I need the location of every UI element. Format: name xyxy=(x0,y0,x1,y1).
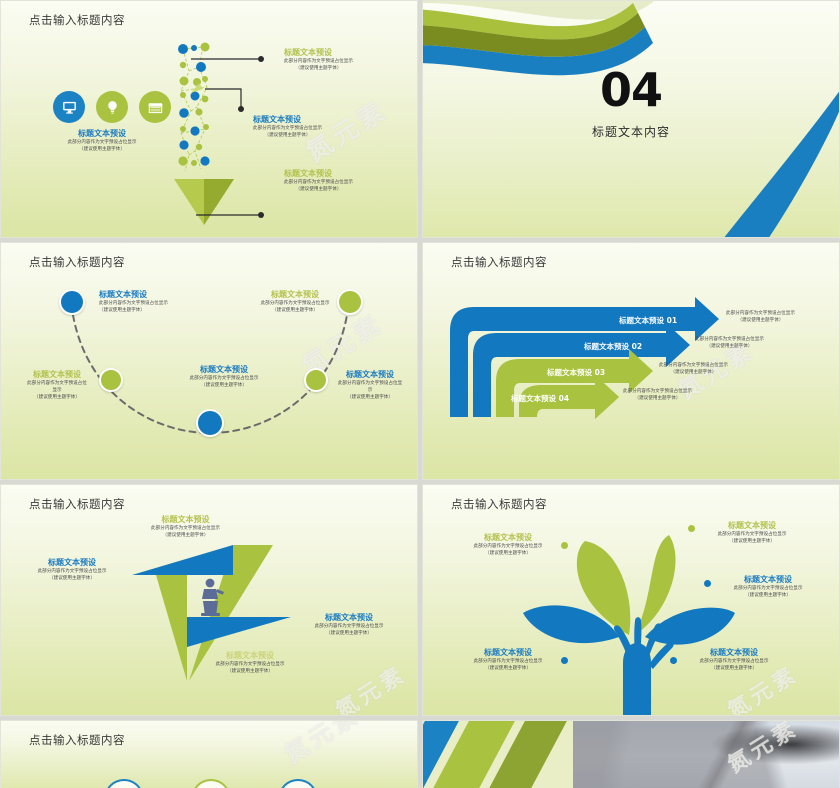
slide-5-item-right: 标题文本预设 此部分内容作为文字预设占位显示 （建议使用主题字体） xyxy=(293,613,405,638)
bullet-top-right xyxy=(688,525,695,532)
preset-title: 标题文本预设 xyxy=(284,169,353,180)
slide-3-label-5: 标题文本预设 此部分内容作为文字预设占位显示 （建议使用主题字体） xyxy=(259,290,331,315)
preset-body-line-1: 此部分内容作为文字预设占位显示 xyxy=(695,337,764,344)
section-subtitle: 标题文本内容 xyxy=(423,123,839,140)
lightbulb-icon[interactable] xyxy=(96,91,128,123)
slide-3-label-4: 标题文本预设 此部分内容作为文字预设占位显示 （建议使用主题字体） xyxy=(337,370,403,401)
preset-body-line-1: 此部分内容作为文字预设占位显示 xyxy=(17,569,127,576)
preset-body-line-1: 此部分内容作为文字预设占位显示 xyxy=(99,301,168,308)
slide-4-desc-2: 此部分内容作为文字预设占位显示 （建议使用主题字体） xyxy=(695,337,764,351)
preset-body-line-1: 此部分内容作为文字预设占位显示 xyxy=(623,389,692,396)
preset-body-line-1: 此部分内容作为文字预设占位显示 xyxy=(123,526,248,533)
preset-body-line-2: （建议使用主题字体） xyxy=(284,66,353,73)
slide-4-stacked-arrows[interactable]: 点击输入标题内容 氮元素 标题文本预设 01 标题文本预设 02 标题文本预设 … xyxy=(422,242,840,480)
preset-body-line-2: （建议使用主题字体） xyxy=(253,133,322,140)
slide-8-city-banner[interactable]: 氮元素 xyxy=(422,720,840,788)
preset-body-line-2: （建议使用主题字体） xyxy=(337,395,403,402)
preset-body-line-2: （建议使用主题字体） xyxy=(459,551,557,558)
preset-title: 标题文本预设 xyxy=(293,613,405,624)
display-ring-icon[interactable] xyxy=(278,779,318,788)
preset-body-line-2: （建议使用主题字体） xyxy=(623,396,692,403)
slide-5-item-bottom: 标题文本预设 此部分内容作为文字预设占位显示 （建议使用主题字体） xyxy=(191,651,309,676)
preset-body-line-1: 此部分内容作为文字预设占位显示 xyxy=(191,662,309,669)
briefcase-ring-icon[interactable] xyxy=(104,779,144,788)
bullet-top-left xyxy=(561,542,568,549)
preset-body-line-2: （建议使用主题字体） xyxy=(681,666,787,673)
preset-title: 标题文本预设 xyxy=(337,370,403,381)
preset-body-line-1: 此部分内容作为文字预设占位显示 xyxy=(259,301,331,308)
bullet-mid-right xyxy=(704,580,711,587)
slide-3-label-2: 标题文本预设 此部分内容作为文字预设占位显示 （建议使用主题字体） xyxy=(25,370,89,401)
preset-body-line-2: （建议使用主题字体） xyxy=(191,669,309,676)
preset-body-line-2: （建议使用主题字体） xyxy=(123,533,248,540)
preset-body-line-1: 此部分内容作为文字预设占位显示 xyxy=(47,140,157,147)
slide-5-pinwheel[interactable]: 点击输入标题内容 氮元素 标题文本预设 此部分内 xyxy=(0,484,418,716)
preset-body-line-1: 此部分内容作为文字预设占位显示 xyxy=(459,544,557,551)
preset-title: 标题文本预设 xyxy=(123,515,248,526)
preset-body-line-2: （建议使用主题字体） xyxy=(699,539,805,546)
slide-6-item-top-left: 标题文本预设 此部分内容作为文字预设占位显示 （建议使用主题字体） xyxy=(459,533,557,558)
slide-3-label-3: 标题文本预设 此部分内容作为文字预设占位显示 （建议使用主题字体） xyxy=(169,365,279,390)
preset-body-line-1: 此部分内容作为文字预设占位显示 xyxy=(715,586,821,593)
slide-1-icon-row xyxy=(53,91,171,123)
preset-body-line-2: （建议使用主题字体） xyxy=(284,187,353,194)
preset-body-line-2: （建议使用主题字体） xyxy=(726,318,795,325)
slide-thumbnail-grid: 点击输入标题内容 氮元素 标题文本预设 此部分内容作为文字预设占位显示 （建议使… xyxy=(0,0,840,788)
preset-body-line-1: 此部分内容作为文字预设占位显示 xyxy=(284,180,353,187)
decorative-curves xyxy=(423,1,840,238)
slide-4-desc-3: 此部分内容作为文字预设占位显示 （建议使用主题字体） xyxy=(659,363,728,377)
preset-body-line-2: （建议使用主题字体） xyxy=(293,631,405,638)
slide-1-callout-2: 标题文本预设 此部分内容作为文字预设占位显示 （建议使用主题字体） xyxy=(253,115,322,140)
monitor-icon[interactable] xyxy=(53,91,85,123)
timeline-node-5[interactable] xyxy=(337,289,363,315)
bullet-bottom-right xyxy=(670,657,677,664)
arrow-label-03: 标题文本预设 03 xyxy=(547,367,605,378)
slide-1-callout-1: 标题文本预设 此部分内容作为文字预设占位显示 （建议使用主题字体） xyxy=(284,48,353,73)
preset-body-line-1: 此部分内容作为文字预设占位显示 xyxy=(284,59,353,66)
preset-body-line-2: （建议使用主题字体） xyxy=(25,395,89,402)
preset-body-line-1: 此部分内容作为文字预设占位显示 xyxy=(169,376,279,383)
preset-body-line-2: （建议使用主题字体） xyxy=(99,308,168,315)
preset-title: 标题文本预设 xyxy=(681,648,787,659)
preset-title: 标题文本预设 xyxy=(459,533,557,544)
slide-4-desc-4: 此部分内容作为文字预设占位显示 （建议使用主题字体） xyxy=(623,389,692,403)
preset-title: 标题文本预设 xyxy=(699,521,805,532)
preset-body-line-2: （建议使用主题字体） xyxy=(659,370,728,377)
slide-6-item-top-right: 标题文本预设 此部分内容作为文字预设占位显示 （建议使用主题字体） xyxy=(699,521,805,546)
preset-body-line-1: 此部分内容作为文字预设占位显示 xyxy=(699,532,805,539)
preset-body-line-1: 此部分内容作为文字预设占位显示 xyxy=(681,659,787,666)
preset-title: 标题文本预设 xyxy=(253,115,322,126)
preset-title: 标题文本预设 xyxy=(47,129,157,140)
preset-title: 标题文本预设 xyxy=(17,558,127,569)
slide-6-hand-tree[interactable]: 点击输入标题内容 氮元素 标题文本预设 此部分内容作为文字预设占位显示 xyxy=(422,484,840,716)
timeline-node-3[interactable] xyxy=(196,409,224,437)
preset-body-line-1: 此部分内容作为文字预设占位显示 xyxy=(659,363,728,370)
timeline-node-4[interactable] xyxy=(304,368,328,392)
slide-6-item-mid-right: 标题文本预设 此部分内容作为文字预设占位显示 （建议使用主题字体） xyxy=(715,575,821,600)
slide-6-item-bottom-left: 标题文本预设 此部分内容作为文字预设占位显示 （建议使用主题字体） xyxy=(459,648,557,673)
city-skyline-photo xyxy=(573,721,839,788)
preset-title: 标题文本预设 xyxy=(459,648,557,659)
timeline-node-2[interactable] xyxy=(99,368,123,392)
preset-title: 标题文本预设 xyxy=(715,575,821,586)
slide-1-callout-3: 标题文本预设 此部分内容作为文字预设占位显示 （建议使用主题字体） xyxy=(284,169,353,194)
slide-2-section-divider[interactable]: 04 标题文本内容 xyxy=(422,0,840,238)
arrow-label-02: 标题文本预设 02 xyxy=(584,341,642,352)
slide-1-title: 点击输入标题内容 xyxy=(29,12,125,28)
slide-1-network-funnel[interactable]: 点击输入标题内容 氮元素 标题文本预设 此部分内容作为文字预设占位显示 （建议使… xyxy=(0,0,418,238)
preset-body-line-1: 此部分内容作为文字预设占位显示 xyxy=(25,381,89,395)
preset-title: 标题文本预设 xyxy=(25,370,89,381)
preset-title: 标题文本预设 xyxy=(284,48,353,59)
slide-5-item-top: 标题文本预设 此部分内容作为文字预设占位显示 （建议使用主题字体） xyxy=(123,515,248,540)
preset-body-line-2: （建议使用主题字体） xyxy=(459,666,557,673)
preset-body-line-1: 此部分内容作为文字预设占位显示 xyxy=(253,126,322,133)
preset-body-line-2: （建议使用主题字体） xyxy=(715,593,821,600)
globe-ring-icon[interactable] xyxy=(191,779,231,788)
bullet-bottom-left xyxy=(561,657,568,664)
slide-7-three-ring-icons[interactable]: 点击输入标题内容 氮元素 xyxy=(0,720,418,788)
stacked-arrow-graphic xyxy=(423,243,840,480)
preset-body-line-2: （建议使用主题字体） xyxy=(17,576,127,583)
timeline-node-1[interactable] xyxy=(59,289,85,315)
slide-7-title: 点击输入标题内容 xyxy=(29,732,125,748)
arrow-label-01: 标题文本预设 01 xyxy=(619,315,677,326)
section-number: 04 xyxy=(423,63,839,117)
preset-title: 标题文本预设 xyxy=(99,290,168,301)
preset-title: 标题文本预设 xyxy=(169,365,279,376)
watermark: 氮元素 xyxy=(276,720,366,770)
slide-3-u-curve-timeline[interactable]: 点击输入标题内容 氮元素 标题文本预设 此部分内容作为文字预设占位显示 （建议使… xyxy=(0,242,418,480)
preset-body-line-2: （建议使用主题字体） xyxy=(695,344,764,351)
preset-body-line-1: 此部分内容作为文字预设占位显示 xyxy=(337,381,403,395)
preset-title: 标题文本预设 xyxy=(259,290,331,301)
preset-body-line-2: （建议使用主题字体） xyxy=(47,147,157,154)
slide-4-desc-1: 此部分内容作为文字预设占位显示 （建议使用主题字体） xyxy=(726,311,795,325)
preset-body-line-1: 此部分内容作为文字预设占位显示 xyxy=(459,659,557,666)
preset-body-line-2: （建议使用主题字体） xyxy=(169,383,279,390)
preset-body-line-1: 此部分内容作为文字预设占位显示 xyxy=(726,311,795,318)
arrow-label-04: 标题文本预设 04 xyxy=(511,393,569,404)
slide-1-lead-text: 标题文本预设 此部分内容作为文字预设占位显示 （建议使用主题字体） xyxy=(47,129,157,154)
hand-tree-graphic xyxy=(423,485,840,716)
slide-5-item-left: 标题文本预设 此部分内容作为文字预设占位显示 （建议使用主题字体） xyxy=(17,558,127,583)
slide-6-item-bottom-right: 标题文本预设 此部分内容作为文字预设占位显示 （建议使用主题字体） xyxy=(681,648,787,673)
preset-body-line-1: 此部分内容作为文字预设占位显示 xyxy=(293,624,405,631)
dashed-u-curve xyxy=(1,243,418,480)
preset-body-line-2: （建议使用主题字体） xyxy=(259,308,331,315)
preset-title: 标题文本预设 xyxy=(191,651,309,662)
slide-3-label-1: 标题文本预设 此部分内容作为文字预设占位显示 （建议使用主题字体） xyxy=(99,290,168,315)
